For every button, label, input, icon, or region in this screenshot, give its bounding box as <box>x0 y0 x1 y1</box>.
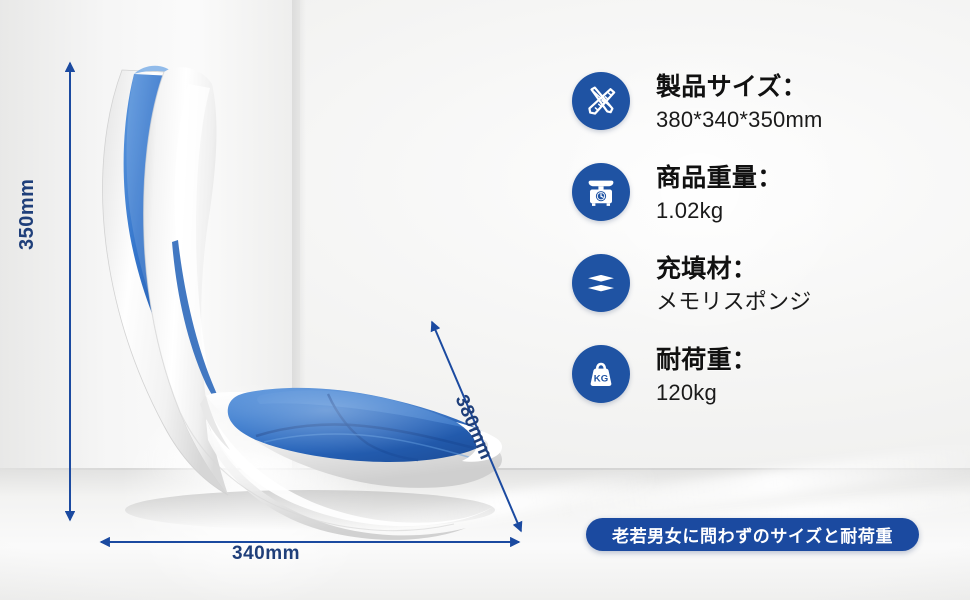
spec-row-weight: 商品重量： 1.02kg <box>572 163 952 225</box>
spec-value: メモリスポンジ <box>656 288 811 317</box>
spec-value: 1.02kg <box>656 197 783 226</box>
spec-title: 製品サイズ： <box>656 73 823 103</box>
highlight-banner: 老若男女に問わずのサイズと耐荷重 <box>586 518 919 551</box>
ruler-pencil-icon <box>572 72 630 130</box>
spec-value: 380*340*350mm <box>656 106 823 135</box>
spec-value: 120kg <box>656 379 757 408</box>
layers-icon <box>572 254 630 312</box>
kitchen-scale-icon <box>572 163 630 221</box>
kg-weight-icon: KG <box>572 345 630 403</box>
highlight-banner-text: 老若男女に問わずのサイズと耐荷重 <box>612 522 893 547</box>
dimension-label-height: 350mm <box>16 179 39 250</box>
product-image <box>60 40 560 540</box>
specification-list: 製品サイズ： 380*340*350mm <box>572 72 952 436</box>
spec-title: 商品重量： <box>656 164 783 194</box>
spec-row-product-size: 製品サイズ： 380*340*350mm <box>572 72 952 134</box>
spec-row-load-capacity: KG 耐荷重： 120kg <box>572 345 952 407</box>
dimension-label-width: 340mm <box>232 543 300 565</box>
spec-title: 充填材： <box>656 255 811 285</box>
spec-title: 耐荷重： <box>656 346 757 376</box>
svg-text:KG: KG <box>594 374 608 385</box>
product-infographic: 350mm 340mm 380mm <box>0 0 970 600</box>
spec-row-filling: 充填材： メモリスポンジ <box>572 254 952 316</box>
